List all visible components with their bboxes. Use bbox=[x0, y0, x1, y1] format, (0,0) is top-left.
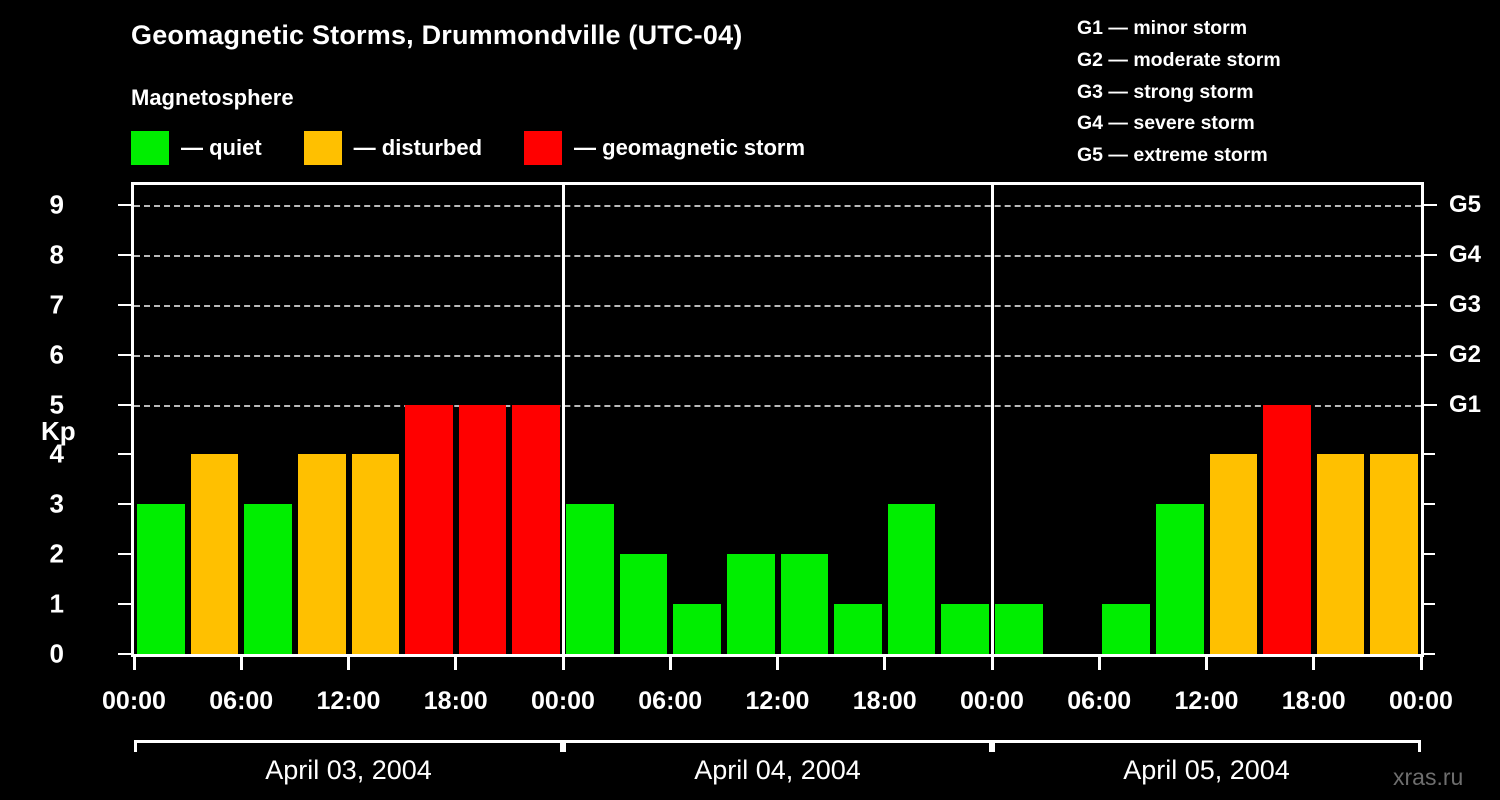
bar-storm-0-6[interactable] bbox=[459, 405, 507, 654]
g-scale-legend: G1 — minor stormG2 — moderate stormG3 — … bbox=[1077, 13, 1281, 172]
x-tick-2 bbox=[347, 657, 350, 670]
x-tick-9 bbox=[1098, 657, 1101, 670]
y-tick-label-2: 2 bbox=[34, 539, 64, 570]
y-tick-label-8: 8 bbox=[34, 239, 64, 270]
bar-storm-0-7[interactable] bbox=[512, 405, 560, 654]
legend-entry-disturbed: — disturbed bbox=[304, 131, 482, 165]
date-label-1: April 04, 2004 bbox=[694, 755, 861, 786]
legend-entry-storm: — geomagnetic storm bbox=[524, 131, 805, 165]
quiet-swatch-icon bbox=[131, 131, 169, 165]
x-tick-label-7: 18:00 bbox=[853, 687, 917, 716]
g-scale-line-5: G5 — extreme storm bbox=[1077, 140, 1281, 172]
g-tick-label-G5: G5 bbox=[1449, 191, 1481, 219]
bar-quiet-1-5[interactable] bbox=[834, 604, 882, 654]
y-tick-0 bbox=[118, 653, 131, 655]
right-minor-tick-kp-4 bbox=[1424, 453, 1435, 455]
y-tick-7 bbox=[118, 304, 131, 306]
plot-frame bbox=[131, 182, 1424, 657]
y-tick-label-6: 6 bbox=[34, 339, 64, 370]
x-tick-label-6: 12:00 bbox=[746, 687, 810, 716]
y-tick-label-4: 4 bbox=[34, 439, 64, 470]
day-divider-2 bbox=[991, 185, 994, 654]
x-tick-5 bbox=[669, 657, 672, 670]
x-tick-label-9: 06:00 bbox=[1067, 687, 1131, 716]
x-tick-label-1: 06:00 bbox=[209, 687, 273, 716]
color-legend: — quiet— disturbed— geomagnetic storm bbox=[131, 131, 847, 165]
y-tick-label-7: 7 bbox=[34, 289, 64, 320]
bar-quiet-2-3[interactable] bbox=[1156, 504, 1204, 654]
y-tick-label-1: 1 bbox=[34, 589, 64, 620]
y-tick-9 bbox=[118, 204, 131, 206]
y-tick-label-9: 9 bbox=[34, 189, 64, 220]
x-tick-4 bbox=[562, 657, 565, 670]
x-tick-label-3: 18:00 bbox=[424, 687, 488, 716]
date-bracket-0 bbox=[134, 740, 563, 752]
day-divider-1 bbox=[562, 185, 565, 654]
date-label-2: April 05, 2004 bbox=[1123, 755, 1290, 786]
x-tick-8 bbox=[991, 657, 994, 670]
x-tick-label-8: 00:00 bbox=[960, 687, 1024, 716]
bar-disturbed-2-6[interactable] bbox=[1317, 454, 1365, 654]
gridline-kp-5 bbox=[134, 405, 1421, 407]
legend-label-storm: — geomagnetic storm bbox=[574, 135, 805, 161]
x-tick-1 bbox=[240, 657, 243, 670]
g-scale-line-2: G2 — moderate storm bbox=[1077, 45, 1281, 77]
g-tick-label-G4: G4 bbox=[1449, 241, 1481, 269]
bar-quiet-1-1[interactable] bbox=[620, 554, 668, 654]
disturbed-swatch-icon bbox=[304, 131, 342, 165]
bar-disturbed-2-7[interactable] bbox=[1370, 454, 1418, 654]
y-tick-3 bbox=[118, 503, 131, 505]
gridline-kp-9 bbox=[134, 205, 1421, 207]
right-minor-tick-kp-0 bbox=[1424, 653, 1435, 655]
y-tick-label-3: 3 bbox=[34, 489, 64, 520]
y-tick-5 bbox=[118, 404, 131, 406]
g-tick-G3 bbox=[1424, 304, 1437, 306]
bar-quiet-0-0[interactable] bbox=[137, 504, 185, 654]
bar-disturbed-2-4[interactable] bbox=[1210, 454, 1258, 654]
bar-disturbed-0-1[interactable] bbox=[191, 454, 239, 654]
g-tick-G2 bbox=[1424, 354, 1437, 356]
x-tick-3 bbox=[454, 657, 457, 670]
magnetosphere-label: Magnetosphere bbox=[131, 85, 294, 111]
g-scale-line-1: G1 — minor storm bbox=[1077, 13, 1281, 45]
x-tick-label-10: 12:00 bbox=[1175, 687, 1239, 716]
gridline-kp-8 bbox=[134, 255, 1421, 257]
legend-entry-quiet: — quiet bbox=[131, 131, 262, 165]
bar-quiet-0-2[interactable] bbox=[244, 504, 292, 654]
y-tick-6 bbox=[118, 354, 131, 356]
bar-disturbed-0-4[interactable] bbox=[352, 454, 400, 654]
x-tick-11 bbox=[1312, 657, 1315, 670]
g-tick-label-G2: G2 bbox=[1449, 341, 1481, 369]
x-tick-label-2: 12:00 bbox=[317, 687, 381, 716]
bar-quiet-1-4[interactable] bbox=[781, 554, 829, 654]
storm-swatch-icon bbox=[524, 131, 562, 165]
x-tick-label-12: 00:00 bbox=[1389, 687, 1453, 716]
right-minor-tick-kp-1 bbox=[1424, 603, 1435, 605]
bar-storm-2-5[interactable] bbox=[1263, 405, 1311, 654]
y-tick-label-0: 0 bbox=[34, 639, 64, 670]
x-tick-label-0: 00:00 bbox=[102, 687, 166, 716]
watermark: xras.ru bbox=[1393, 764, 1463, 791]
right-minor-tick-kp-2 bbox=[1424, 553, 1435, 555]
plot-area bbox=[134, 185, 1421, 654]
g-tick-G5 bbox=[1424, 204, 1437, 206]
legend-label-quiet: — quiet bbox=[181, 135, 262, 161]
legend-label-disturbed: — disturbed bbox=[354, 135, 482, 161]
bar-quiet-1-2[interactable] bbox=[673, 604, 721, 654]
x-tick-label-5: 06:00 bbox=[638, 687, 702, 716]
bar-quiet-1-0[interactable] bbox=[566, 504, 614, 654]
x-tick-7 bbox=[883, 657, 886, 670]
g-tick-label-G1: G1 bbox=[1449, 391, 1481, 419]
date-label-0: April 03, 2004 bbox=[265, 755, 432, 786]
date-bracket-2 bbox=[992, 740, 1421, 752]
bar-quiet-1-7[interactable] bbox=[941, 604, 989, 654]
g-scale-line-3: G3 — strong storm bbox=[1077, 77, 1281, 109]
right-minor-tick-kp-3 bbox=[1424, 503, 1435, 505]
bar-disturbed-0-3[interactable] bbox=[298, 454, 346, 654]
bar-quiet-1-6[interactable] bbox=[888, 504, 936, 654]
x-tick-10 bbox=[1205, 657, 1208, 670]
y-tick-label-5: 5 bbox=[34, 389, 64, 420]
y-tick-1 bbox=[118, 603, 131, 605]
page-title: Geomagnetic Storms, Drummondville (UTC-0… bbox=[131, 20, 743, 51]
g-scale-line-4: G4 — severe storm bbox=[1077, 108, 1281, 140]
bar-quiet-2-2[interactable] bbox=[1102, 604, 1150, 654]
g-tick-label-G3: G3 bbox=[1449, 291, 1481, 319]
g-tick-G1 bbox=[1424, 404, 1437, 406]
y-tick-4 bbox=[118, 453, 131, 455]
bar-quiet-1-3[interactable] bbox=[727, 554, 775, 654]
gridline-kp-7 bbox=[134, 305, 1421, 307]
gridline-kp-6 bbox=[134, 355, 1421, 357]
bar-quiet-2-0[interactable] bbox=[995, 604, 1043, 654]
y-tick-8 bbox=[118, 254, 131, 256]
x-tick-label-11: 18:00 bbox=[1282, 687, 1346, 716]
y-tick-2 bbox=[118, 553, 131, 555]
x-tick-0 bbox=[133, 657, 136, 670]
date-bracket-1 bbox=[563, 740, 992, 752]
x-tick-12 bbox=[1420, 657, 1423, 670]
x-tick-label-4: 00:00 bbox=[531, 687, 595, 716]
x-tick-6 bbox=[776, 657, 779, 670]
g-tick-G4 bbox=[1424, 254, 1437, 256]
bar-storm-0-5[interactable] bbox=[405, 405, 453, 654]
